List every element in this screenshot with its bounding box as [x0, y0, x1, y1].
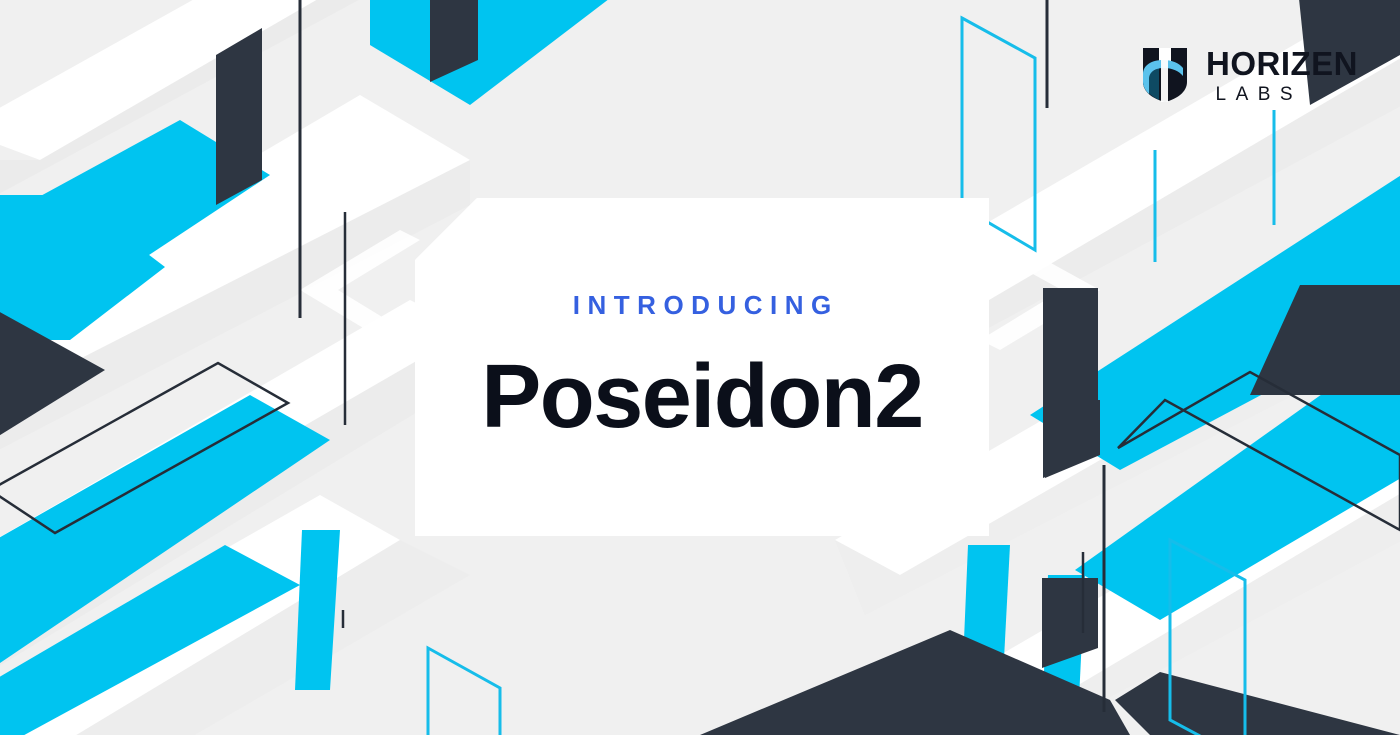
hero-card: INTRODUCING Poseidon2	[415, 198, 989, 536]
hero-eyebrow: INTRODUCING	[565, 292, 838, 318]
horizen-shield-h-icon	[1139, 46, 1191, 104]
navy-parallelogram-topleft	[216, 28, 262, 205]
promo-banner: INTRODUCING Poseidon2 HORIZEN LABS	[0, 0, 1400, 735]
logo-secondary-text: LABS	[1206, 85, 1358, 104]
horizen-labs-logo[interactable]: HORIZEN LABS	[1139, 46, 1358, 104]
shield-h-gap	[1161, 60, 1168, 102]
logo-wordmark: HORIZEN LABS	[1206, 47, 1358, 104]
logo-primary-text: HORIZEN	[1206, 47, 1358, 80]
hero-title: Poseidon2	[481, 352, 923, 442]
